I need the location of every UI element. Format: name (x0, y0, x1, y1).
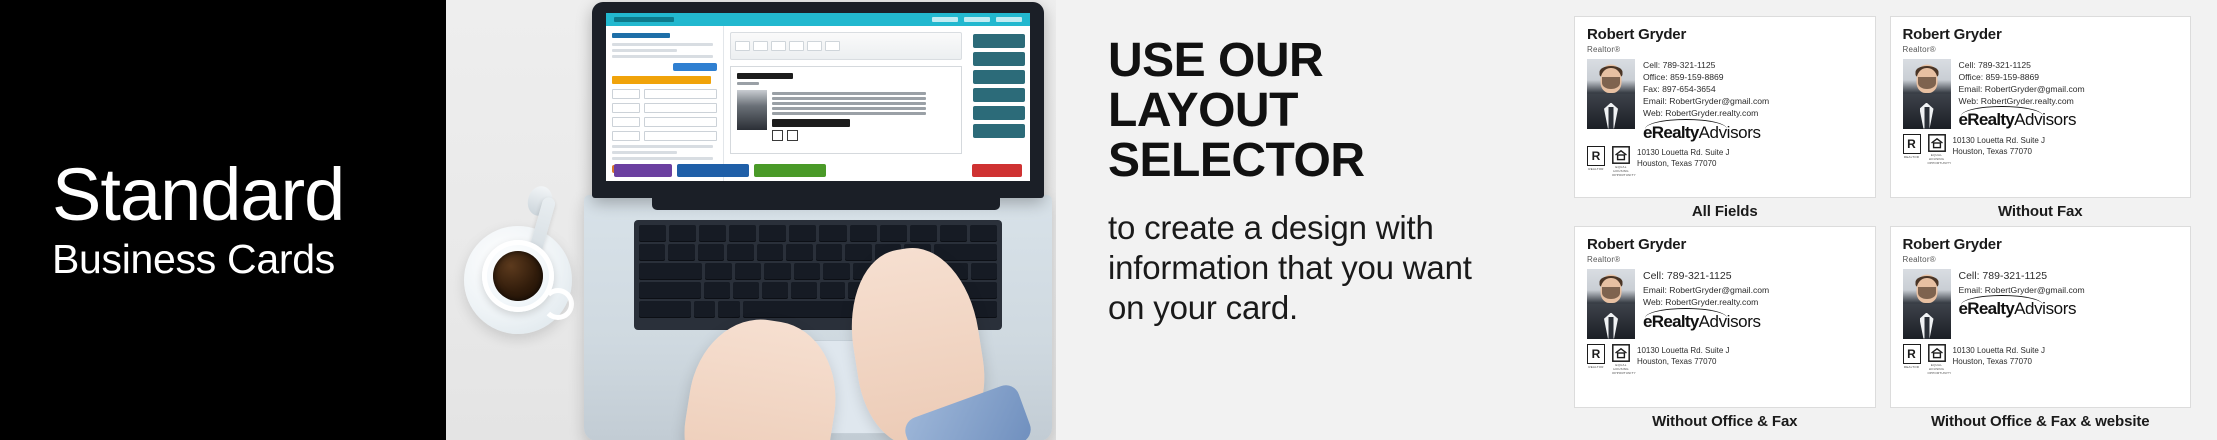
erealty-advisors-logo: eRealtyAdvisors (1959, 300, 2179, 317)
equal-housing-badge-icon: EQUAL HOUSING OPPORTUNITY (1612, 344, 1630, 375)
equal-housing-caption: EQUAL HOUSING OPPORTUNITY (1928, 153, 1946, 165)
card-name: Robert Gryder (1903, 27, 2179, 44)
app-nav (932, 17, 1022, 22)
logo-swoosh-icon (1961, 106, 2043, 116)
headline-line-1: USE OUR (1108, 36, 1566, 86)
app-action-red (972, 164, 1022, 177)
app-action-green (754, 164, 826, 177)
app-action-purple (614, 164, 672, 177)
laptop-lid (592, 2, 1044, 198)
equal-housing-badge-icon: EQUAL HOUSING OPPORTUNITY (1928, 134, 1946, 165)
page-subtitle: Business Cards (52, 238, 446, 281)
realtor-mark: R (1903, 134, 1921, 154)
subcopy-line-3: on your card. (1108, 288, 1566, 328)
variant-label: Without Office & Fax (1574, 408, 1876, 432)
realtor-caption: REALTOR (1903, 155, 1921, 159)
card-address: 10130 Louetta Rd. Suite J Houston, Texas… (1637, 344, 1730, 367)
card-headshot (1587, 269, 1635, 339)
logo-swoosh-icon (1645, 119, 1727, 129)
card-role: Realtor® (1587, 45, 1863, 54)
equal-housing-caption: EQUAL HOUSING OPPORTUNITY (1612, 363, 1630, 375)
app-card-preview (730, 66, 962, 154)
address-line-1: 10130 Louetta Rd. Suite J (1637, 345, 1730, 356)
laptop (592, 2, 1044, 440)
realtor-mark: R (1587, 146, 1605, 166)
left-title-panel: Standard Business Cards (0, 0, 446, 440)
card-contact-line: Cell: 789-321-1125 (1959, 269, 2179, 285)
card-contact-line: Cell: 789-321-1125 (1643, 59, 1863, 71)
card-name: Robert Gryder (1903, 237, 2179, 254)
address-line-1: 10130 Louetta Rd. Suite J (1637, 147, 1730, 158)
subcopy-line-2: information that you want (1108, 248, 1566, 288)
app-tool-rail (968, 26, 1030, 181)
address-line-2: Houston, Texas 77070 (1637, 356, 1730, 367)
business-card-preview[interactable]: Robert Gryder Realtor® Cell: 789-321-112… (1890, 16, 2192, 198)
promo-headline: USE OUR LAYOUT SELECTOR (1108, 36, 1566, 186)
hero-photo (446, 0, 1056, 440)
equal-housing-caption: EQUAL HOUSING OPPORTUNITY (1612, 165, 1630, 177)
business-card-preview[interactable]: Robert Gryder Realtor® Cell: 789-321-112… (1890, 226, 2192, 408)
erealty-advisors-logo: eRealtyAdvisors (1643, 313, 1863, 330)
realtor-badge-icon: R REALTOR (1587, 344, 1605, 369)
app-nav-item (964, 17, 990, 22)
app-card-preview-pane (724, 26, 968, 181)
card-contact-line: Office: 859-159-8869 (1643, 71, 1863, 83)
card-role: Realtor® (1587, 255, 1863, 264)
equal-housing-badge-icon: EQUAL HOUSING OPPORTUNITY (1928, 344, 1946, 375)
business-card-preview[interactable]: Robert Gryder Realtor® Cell: 789-321-112… (1574, 226, 1876, 408)
card-name: Robert Gryder (1587, 237, 1863, 254)
address-line-1: 10130 Louetta Rd. Suite J (1953, 345, 2046, 356)
card-name: Robert Gryder (1587, 27, 1863, 44)
app-nav-item (932, 17, 958, 22)
subcopy-line-1: to create a design with (1108, 208, 1566, 248)
standard-business-cards-banner: Standard Business Cards (0, 0, 2217, 440)
layout-variant-cell[interactable]: Robert Gryder Realtor® Cell: 789-321-112… (1574, 16, 1876, 222)
card-headshot (1903, 59, 1951, 129)
app-action-buttons (606, 160, 1030, 181)
card-role: Realtor® (1903, 255, 2179, 264)
app-action-blue (677, 164, 749, 177)
laptop-screen (606, 13, 1030, 181)
app-nav-item (996, 17, 1022, 22)
variant-label: All Fields (1574, 198, 1876, 222)
promo-subcopy: to create a design with information that… (1108, 208, 1566, 329)
card-contact-line: Email: RobertGryder@gmail.com (1643, 284, 1863, 296)
erealty-advisors-logo: eRealtyAdvisors (1959, 111, 2179, 128)
layout-variant-cell[interactable]: Robert Gryder Realtor® Cell: 789-321-112… (1890, 226, 2192, 432)
card-contact-line: Web: RobertGryder.realty.com (1643, 107, 1863, 119)
address-line-2: Houston, Texas 77070 (1953, 146, 2046, 157)
headline-line-3: SELECTOR (1108, 136, 1566, 186)
erealty-advisors-logo: eRealtyAdvisors (1643, 124, 1863, 141)
card-headshot (1587, 59, 1635, 129)
promo-copy: USE OUR LAYOUT SELECTOR to create a desi… (1056, 0, 1566, 440)
realtor-caption: REALTOR (1903, 365, 1921, 369)
app-body (606, 26, 1030, 181)
equal-housing-badge-icon: EQUAL HOUSING OPPORTUNITY (1612, 146, 1630, 177)
layout-variant-cell[interactable]: Robert Gryder Realtor® Cell: 789-321-112… (1574, 226, 1876, 432)
realtor-badge-icon: R REALTOR (1903, 134, 1921, 159)
layout-variant-cell[interactable]: Robert Gryder Realtor® Cell: 789-321-112… (1890, 16, 2192, 222)
app-logo (614, 17, 674, 22)
logo-swoosh-icon (1645, 308, 1727, 318)
card-address: 10130 Louetta Rd. Suite J Houston, Texas… (1953, 344, 2046, 367)
card-address: 10130 Louetta Rd. Suite J Houston, Texas… (1637, 146, 1730, 169)
realtor-caption: REALTOR (1587, 365, 1605, 369)
card-contact-line: Email: RobertGryder@gmail.com (1959, 83, 2179, 95)
card-contact-line: Email: RobertGryder@gmail.com (1643, 95, 1863, 107)
card-contact-line: Office: 859-159-8869 (1959, 71, 2179, 83)
realtor-mark: R (1587, 344, 1605, 364)
address-line-1: 10130 Louetta Rd. Suite J (1953, 135, 2046, 146)
card-address: 10130 Louetta Rd. Suite J Houston, Texas… (1953, 134, 2046, 157)
page-title: Standard (52, 159, 446, 232)
realtor-badge-icon: R REALTOR (1903, 344, 1921, 369)
equal-housing-caption: EQUAL HOUSING OPPORTUNITY (1928, 363, 1946, 375)
headline-line-2: LAYOUT (1108, 86, 1566, 136)
card-contact-line: Cell: 789-321-1125 (1959, 59, 2179, 71)
layout-variant-grid: Robert Gryder Realtor® Cell: 789-321-112… (1566, 0, 2217, 440)
realtor-mark: R (1903, 344, 1921, 364)
variant-label: Without Office & Fax & website (1890, 408, 2192, 432)
cup-handle (542, 288, 574, 320)
app-sidebar-form (606, 26, 724, 181)
realtor-caption: REALTOR (1587, 167, 1605, 171)
address-line-2: Houston, Texas 77070 (1637, 158, 1730, 169)
laptop-hinge (652, 198, 1000, 210)
keyboard-row (639, 225, 997, 241)
keyboard-row (639, 244, 997, 260)
card-role: Realtor® (1903, 45, 2179, 54)
card-contact-line: Cell: 789-321-1125 (1643, 269, 1863, 285)
app-toolbar (730, 32, 962, 60)
realtor-badge-icon: R REALTOR (1587, 146, 1605, 171)
card-headshot (1903, 269, 1951, 339)
variant-label: Without Fax (1890, 198, 2192, 222)
coffee-liquid (493, 251, 543, 301)
card-contact-line: Fax: 897-654-3654 (1643, 83, 1863, 95)
card-contact-line: Web: RobertGryder.realty.com (1643, 296, 1863, 308)
business-card-preview[interactable]: Robert Gryder Realtor® Cell: 789-321-112… (1574, 16, 1876, 198)
logo-swoosh-icon (1961, 295, 2043, 305)
address-line-2: Houston, Texas 77070 (1953, 356, 2046, 367)
app-header-bar (606, 13, 1030, 26)
